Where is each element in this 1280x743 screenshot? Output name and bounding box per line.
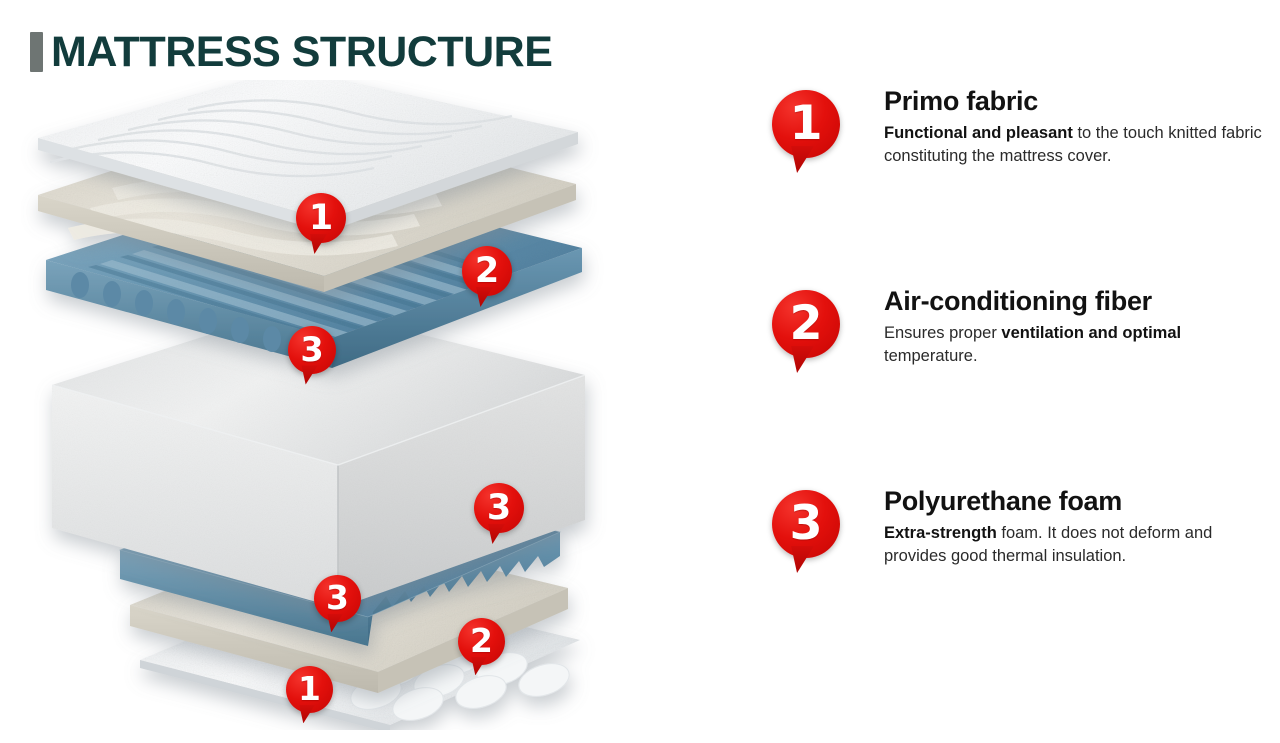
legend-description: Functional and pleasant to the touch kni… — [884, 122, 1264, 168]
legend-desc-pre: Ensures proper — [884, 324, 1001, 342]
diagram-marker-1-bottom-cover[interactable]: 1 — [286, 666, 333, 713]
legend-desc-bold: Functional and pleasant — [884, 124, 1073, 142]
marker-number: 2 — [772, 290, 840, 358]
diagram-marker-1-top-cover[interactable]: 1 — [296, 193, 346, 243]
diagram-marker-3-bottom-wave-foam[interactable]: 3 — [314, 575, 361, 622]
marker-number: 3 — [314, 575, 361, 622]
diagram-marker-2-bottom-fiber[interactable]: 2 — [458, 618, 505, 665]
marker-number: 1 — [286, 666, 333, 713]
legend-marker-1[interactable]: 1 — [772, 90, 840, 158]
marker-number: 2 — [458, 618, 505, 665]
marker-number: 3 — [772, 490, 840, 558]
legend-text-block: Polyurethane foam Extra-strength foam. I… — [884, 486, 1264, 568]
legend-description: Extra-strength foam. It does not deform … — [884, 522, 1264, 568]
marker-number: 1 — [296, 193, 346, 243]
infographic-canvas: MATTRESS STRUCTURE — [0, 0, 1280, 743]
legend-text-block: Primo fabric Functional and pleasant to … — [884, 86, 1264, 168]
marker-number: 1 — [772, 90, 840, 158]
title-accent-bar — [30, 32, 43, 72]
legend-text-block: Air-conditioning fiber Ensures proper ve… — [884, 286, 1264, 368]
diagram-marker-3-core-block[interactable]: 3 — [474, 483, 524, 533]
legend-title: Primo fabric — [884, 86, 1264, 116]
diagram-marker-2-top-fiber[interactable]: 2 — [462, 246, 512, 296]
marker-number: 3 — [288, 326, 336, 374]
legend-marker-2[interactable]: 2 — [772, 290, 840, 358]
legend-desc-rest: temperature. — [884, 347, 978, 365]
legend-list: 1 Primo fabric Functional and pleasant t… — [772, 86, 1272, 686]
legend-item-polyurethane-foam[interactable]: 3 Polyurethane foam Extra-strength foam.… — [772, 486, 1272, 686]
legend-title: Air-conditioning fiber — [884, 286, 1264, 316]
mattress-exploded-diagram: 1 2 3 3 3 2 1 — [20, 80, 700, 730]
page-title: MATTRESS STRUCTURE — [51, 31, 552, 74]
page-header: MATTRESS STRUCTURE — [30, 28, 552, 76]
legend-desc-bold: ventilation and optimal — [1001, 324, 1181, 342]
legend-title: Polyurethane foam — [884, 486, 1264, 516]
diagram-marker-3-top-wave-foam[interactable]: 3 — [288, 326, 336, 374]
legend-desc-bold: Extra-strength — [884, 524, 997, 542]
legend-description: Ensures proper ventilation and optimal t… — [884, 322, 1264, 368]
marker-number: 2 — [462, 246, 512, 296]
marker-number: 3 — [474, 483, 524, 533]
legend-marker-3[interactable]: 3 — [772, 490, 840, 558]
legend-item-air-conditioning-fiber[interactable]: 2 Air-conditioning fiber Ensures proper … — [772, 286, 1272, 486]
legend-item-primo-fabric[interactable]: 1 Primo fabric Functional and pleasant t… — [772, 86, 1272, 286]
